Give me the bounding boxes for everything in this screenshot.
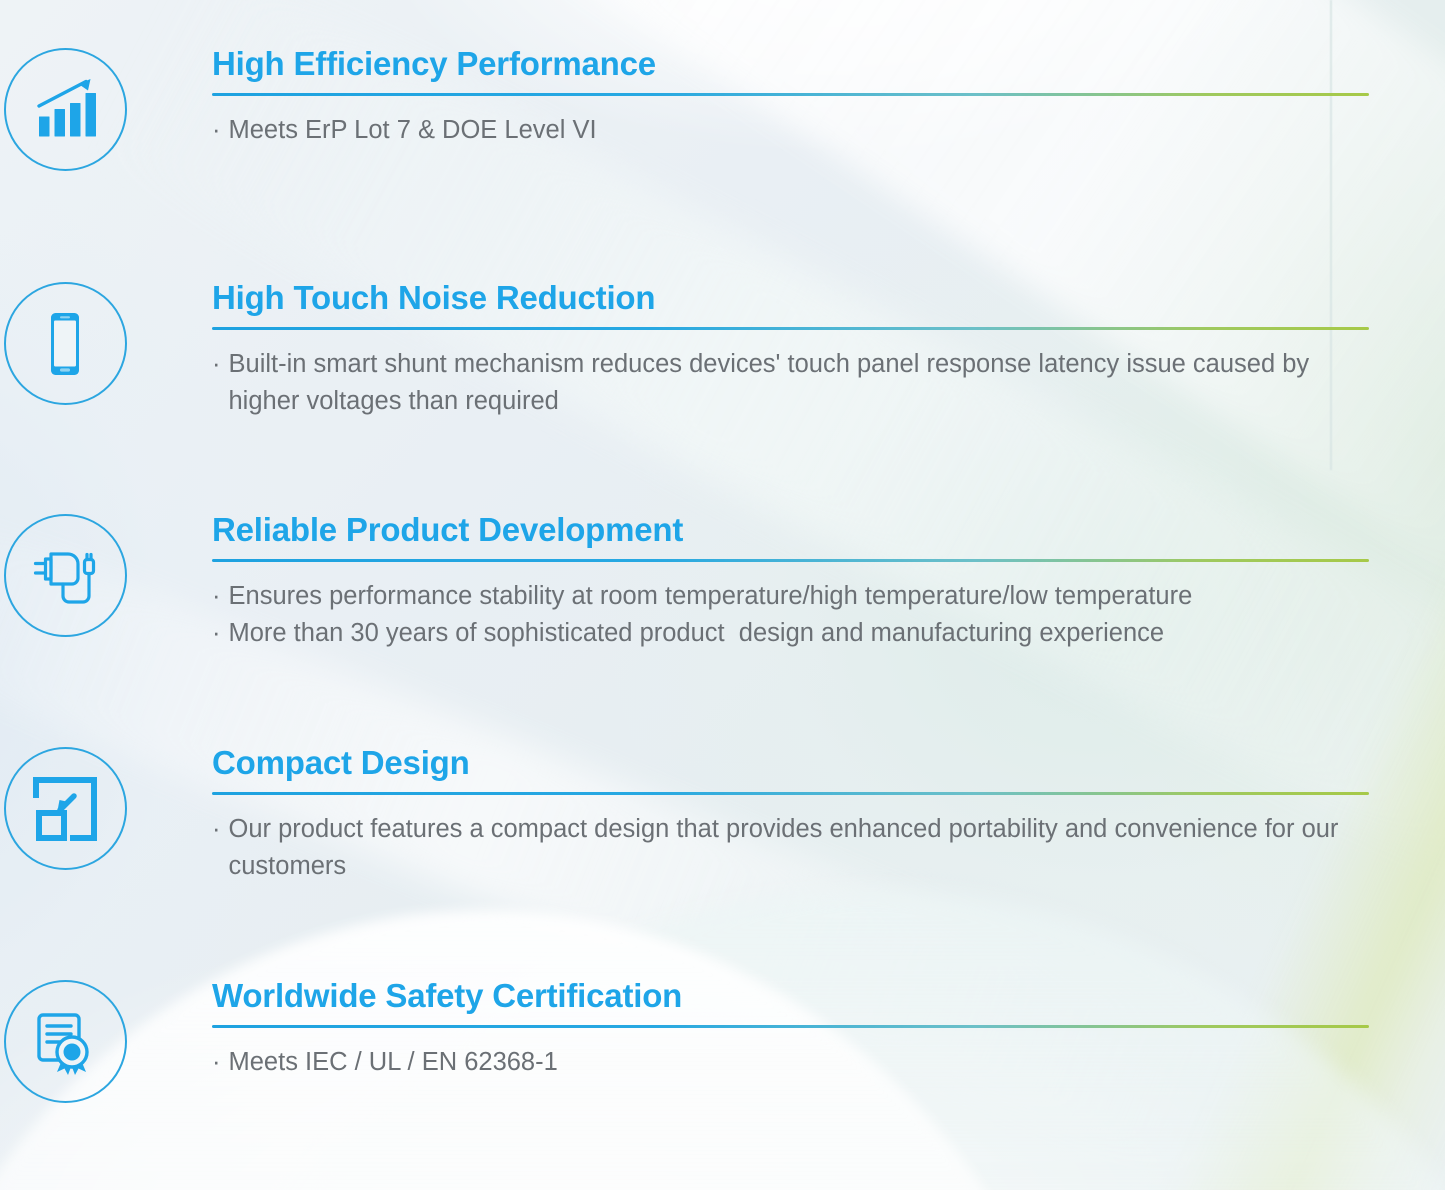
- feature-divider: [212, 327, 1369, 330]
- smartphone-icon: [4, 282, 127, 405]
- bullet-text: More than 30 years of sophisticated prod…: [229, 615, 1165, 652]
- feature-icon-container: [0, 978, 130, 1103]
- feature-icon-container: [0, 280, 130, 405]
- feature-body: High Touch Noise Reduction · Built-in sm…: [130, 280, 1445, 420]
- feature-bullets: · Meets IEC / UL / EN 62368-1: [212, 1044, 1369, 1081]
- feature-title: Reliable Product Development: [212, 512, 1369, 548]
- feature-divider: [212, 93, 1369, 96]
- bullet-marker: ·: [212, 578, 221, 615]
- feature-divider: [212, 1025, 1369, 1028]
- bullet-item: · Our product features a compact design …: [212, 811, 1369, 885]
- feature-icon-container: [0, 46, 130, 171]
- feature-item: Reliable Product Development · Ensures p…: [0, 512, 1445, 652]
- feature-item: High Touch Noise Reduction · Built-in sm…: [0, 280, 1445, 420]
- feature-icon-container: [0, 745, 130, 870]
- feature-bullets: · Meets ErP Lot 7 & DOE Level VI: [212, 112, 1369, 149]
- bullet-text: Our product features a compact design th…: [229, 811, 1370, 885]
- compact-resize-icon: [4, 747, 127, 870]
- feature-body: Worldwide Safety Certification · Meets I…: [130, 978, 1445, 1081]
- feature-highlights-page: High Efficiency Performance · Meets ErP …: [0, 0, 1445, 1190]
- feature-body: Compact Design · Our product features a …: [130, 745, 1445, 885]
- bullet-item: · More than 30 years of sophisticated pr…: [212, 615, 1369, 652]
- feature-item: Worldwide Safety Certification · Meets I…: [0, 978, 1445, 1103]
- bullet-text: Meets IEC / UL / EN 62368-1: [229, 1044, 558, 1081]
- feature-divider: [212, 559, 1369, 562]
- bullet-text: Meets ErP Lot 7 & DOE Level VI: [229, 112, 597, 149]
- bullet-marker: ·: [212, 1044, 221, 1081]
- feature-body: Reliable Product Development · Ensures p…: [130, 512, 1445, 652]
- feature-item: Compact Design · Our product features a …: [0, 745, 1445, 885]
- power-adapter-icon: [4, 514, 127, 637]
- feature-bullets: · Our product features a compact design …: [212, 811, 1369, 885]
- feature-icon-container: [0, 512, 130, 637]
- feature-title: High Touch Noise Reduction: [212, 280, 1369, 316]
- bullet-item: · Ensures performance stability at room …: [212, 578, 1369, 615]
- feature-body: High Efficiency Performance · Meets ErP …: [130, 46, 1445, 149]
- feature-bullets: · Ensures performance stability at room …: [212, 578, 1369, 652]
- bullet-marker: ·: [212, 615, 221, 652]
- bullet-item: · Built-in smart shunt mechanism reduces…: [212, 346, 1369, 420]
- bullet-text: Ensures performance stability at room te…: [229, 578, 1193, 615]
- bar-chart-growth-icon: [4, 48, 127, 171]
- bullet-marker: ·: [212, 112, 221, 149]
- bullet-marker: ·: [212, 811, 221, 848]
- certificate-award-icon: [4, 980, 127, 1103]
- feature-divider: [212, 792, 1369, 795]
- feature-title: Worldwide Safety Certification: [212, 978, 1369, 1014]
- feature-bullets: · Built-in smart shunt mechanism reduces…: [212, 346, 1369, 420]
- feature-title: Compact Design: [212, 745, 1369, 781]
- bullet-text: Built-in smart shunt mechanism reduces d…: [229, 346, 1370, 420]
- feature-item: High Efficiency Performance · Meets ErP …: [0, 46, 1445, 171]
- feature-title: High Efficiency Performance: [212, 46, 1369, 82]
- bullet-marker: ·: [212, 346, 221, 383]
- bullet-item: · Meets IEC / UL / EN 62368-1: [212, 1044, 1369, 1081]
- bullet-item: · Meets ErP Lot 7 & DOE Level VI: [212, 112, 1369, 149]
